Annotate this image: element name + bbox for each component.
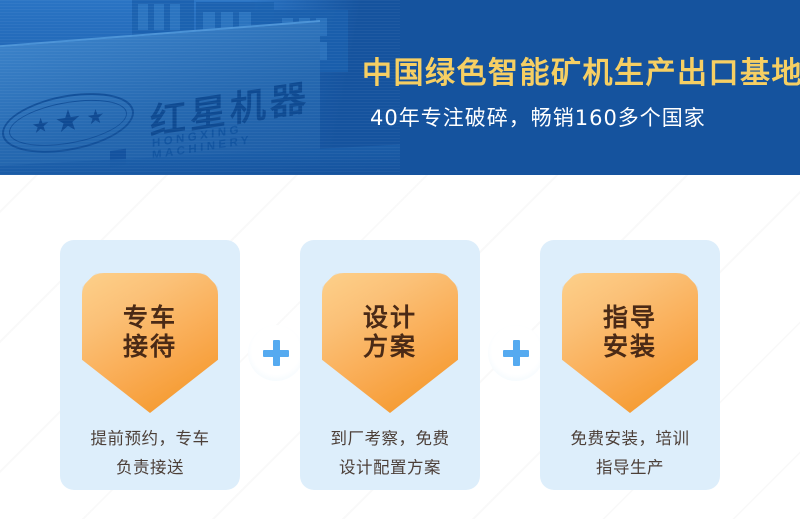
star-icon-left: ★ [32, 115, 50, 138]
description-line2: 负责接送 [68, 454, 232, 483]
service-card-1[interactable]: 专车 接待 提前预约，专车 负责接送 [60, 240, 240, 490]
description-line1: 免费安装，培训 [548, 425, 712, 454]
banner-title: 中国绿色智能矿机生产出口基地 [362, 48, 800, 92]
banner-subtitle: 40年专注破碎，畅销160多个国家 [370, 102, 706, 132]
description-line1: 到厂考察，免费 [308, 425, 472, 454]
service-description-2: 到厂考察，免费 设计配置方案 [308, 425, 472, 483]
plus-connector-1 [248, 325, 304, 381]
factory-photo: ★ ★ ★ 红星机器 HONGXING MACHINERY [0, 0, 400, 175]
description-line1: 提前预约，专车 [68, 425, 232, 454]
plus-icon [263, 340, 289, 366]
badge-label-line1: 指导 [603, 303, 657, 332]
plus-icon [503, 340, 529, 366]
service-card-2[interactable]: 设计 方案 到厂考察，免费 设计配置方案 [300, 240, 480, 490]
badge-label-line2: 安装 [603, 332, 657, 361]
service-card-3[interactable]: 指导 安装 免费安装，培训 指导生产 [540, 240, 720, 490]
badge-label-line1: 专车 [123, 303, 177, 332]
badge-label-line2: 方案 [363, 332, 417, 361]
service-section: 专车 接待 提前预约，专车 负责接送 设计 方案 到厂考察，免费 设计配置方案 [0, 175, 800, 519]
badge-label-line1: 设计 [363, 303, 417, 332]
service-description-3: 免费安装，培训 指导生产 [548, 425, 712, 483]
service-description-1: 提前预约，专车 负责接送 [68, 425, 232, 483]
service-badge-3: 指导 安装 [562, 273, 698, 413]
service-badge-1: 专车 接待 [82, 273, 218, 413]
hero-banner: ★ ★ ★ 红星机器 HONGXING MACHINERY 中国绿色智能矿机生产… [0, 0, 800, 175]
service-badge-2: 设计 方案 [322, 273, 458, 413]
description-line2: 指导生产 [548, 454, 712, 483]
badge-label-line2: 接待 [123, 332, 177, 361]
description-line2: 设计配置方案 [308, 454, 472, 483]
star-icon-right: ★ [86, 106, 104, 129]
promo-page: ★ ★ ★ 红星机器 HONGXING MACHINERY 中国绿色智能矿机生产… [0, 0, 800, 519]
plus-connector-2 [488, 325, 544, 381]
star-icon-center: ★ [55, 105, 82, 139]
